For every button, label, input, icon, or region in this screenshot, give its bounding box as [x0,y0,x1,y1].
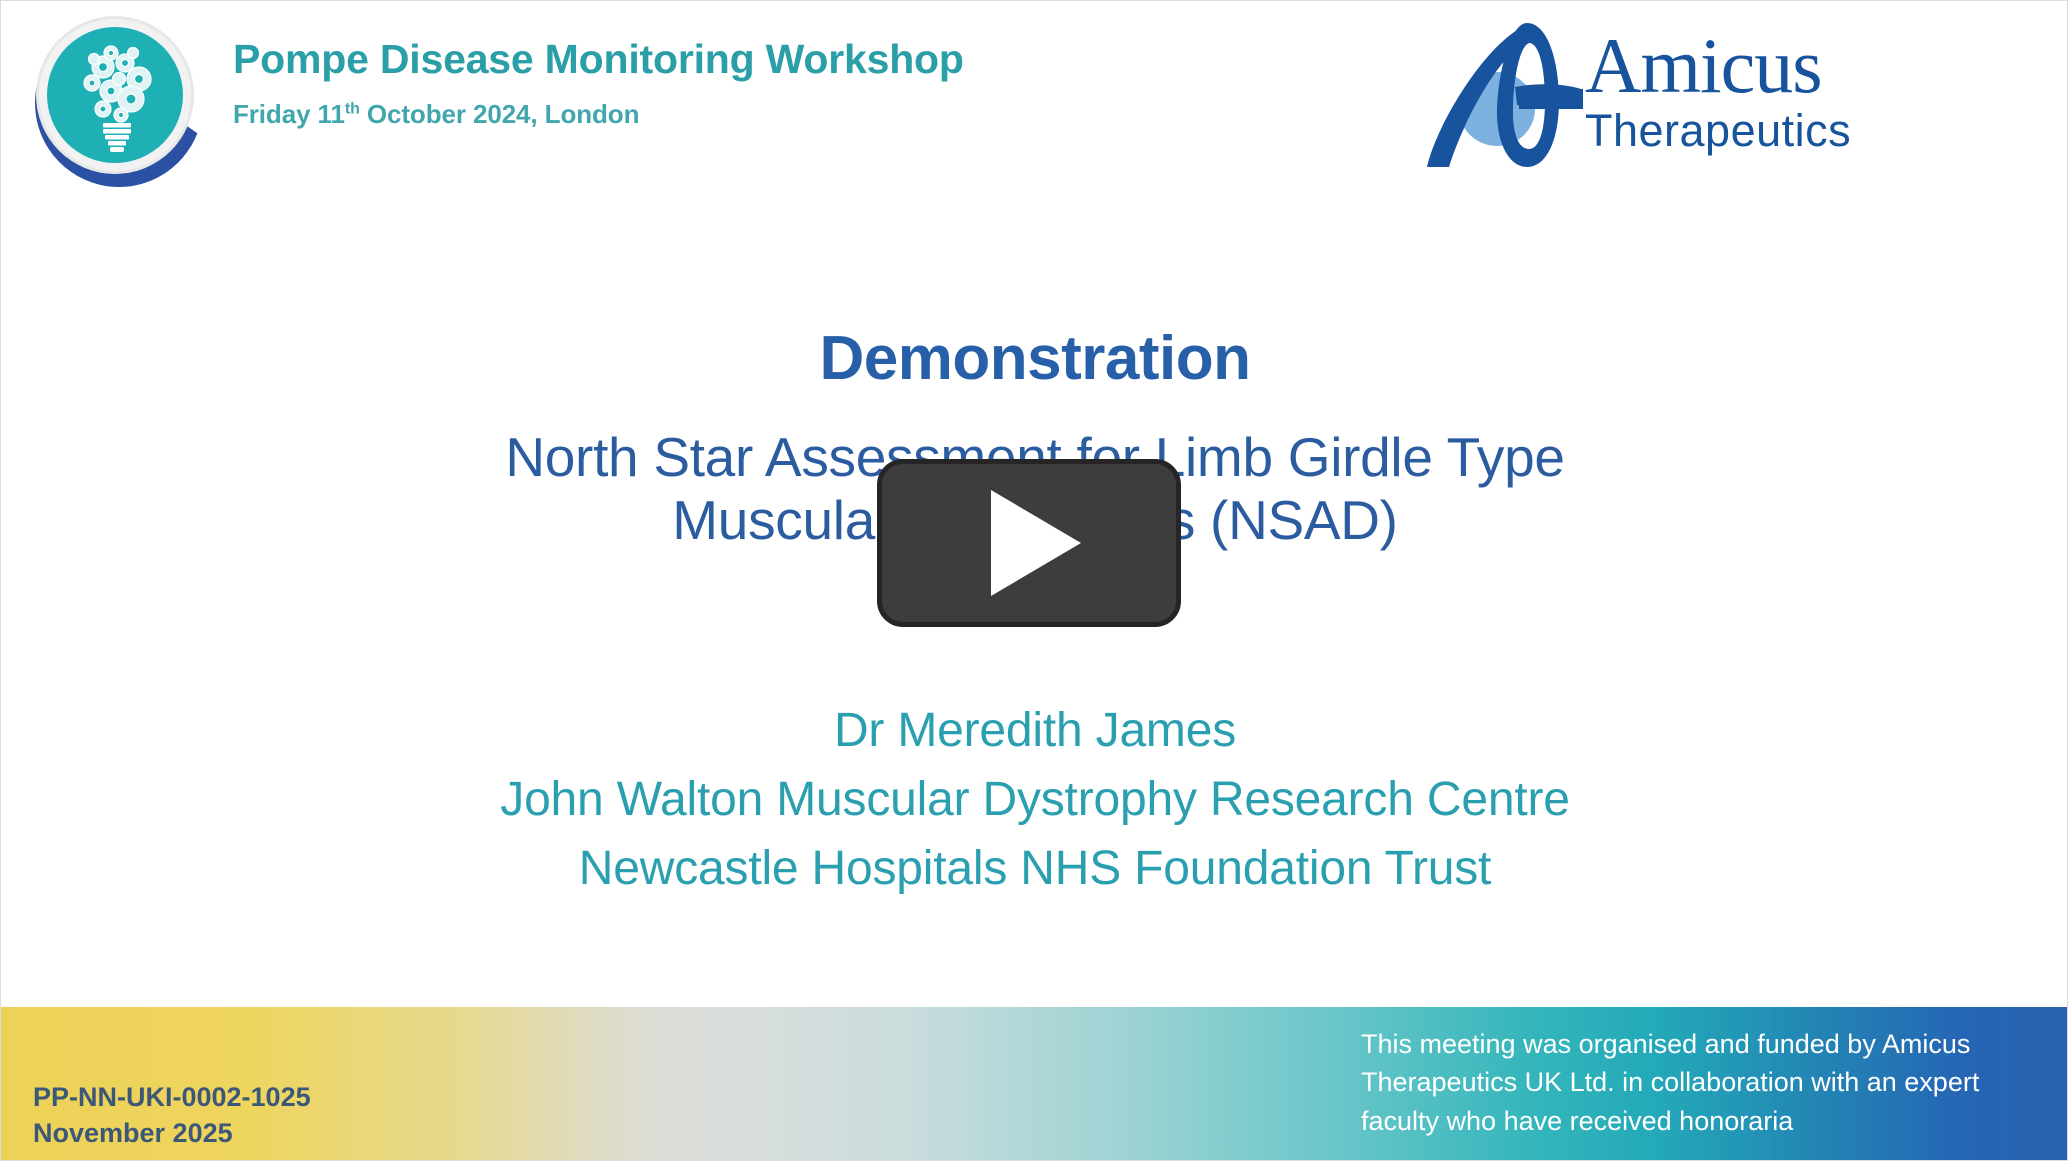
slide-footer: PP-NN-UKI-0002-1025 November 2025 This m… [1,1007,2068,1160]
play-triangle-icon [991,490,1081,596]
workshop-title: Pompe Disease Monitoring Workshop [233,37,964,82]
footer-date: November 2025 [33,1115,311,1151]
lightbulb-gears-icon [47,27,183,163]
page-title: Demonstration [1,323,2068,394]
amicus-logo: Amicus Therapeutics [1423,15,1993,175]
workshop-logo [29,13,209,193]
footer-job-code-block: PP-NN-UKI-0002-1025 November 2025 [33,1079,311,1152]
presentation-slide: Pompe Disease Monitoring Workshop Friday… [0,0,2068,1161]
speaker-affiliation-1: John Walton Muscular Dystrophy Research … [1,765,2068,834]
speaker-name: Dr Meredith James [1,696,2068,765]
slide-header: Pompe Disease Monitoring Workshop Friday… [1,1,2068,211]
footer-job-code: PP-NN-UKI-0002-1025 [33,1079,311,1115]
footer-disclaimer: This meeting was organised and funded by… [1361,1025,2041,1140]
workshop-title-block: Pompe Disease Monitoring Workshop Friday… [233,37,964,130]
speaker-affiliation-2: Newcastle Hospitals NHS Foundation Trust [1,834,2068,903]
workshop-date-location: Friday 11th October 2024, London [233,99,964,130]
date-ordinal: th [345,100,360,117]
logo-teal-disc [47,27,183,163]
amicus-name: Amicus [1585,29,1851,103]
date-suffix: October 2024, London [360,99,640,129]
date-prefix: Friday 11 [233,99,345,129]
speaker-block: Dr Meredith James John Walton Muscular D… [1,696,2068,903]
amicus-tagline: Therapeutics [1585,107,1851,154]
video-play-button[interactable] [877,459,1181,627]
amicus-a-mark-icon [1423,17,1583,172]
amicus-wordmark: Amicus Therapeutics [1585,29,1851,154]
